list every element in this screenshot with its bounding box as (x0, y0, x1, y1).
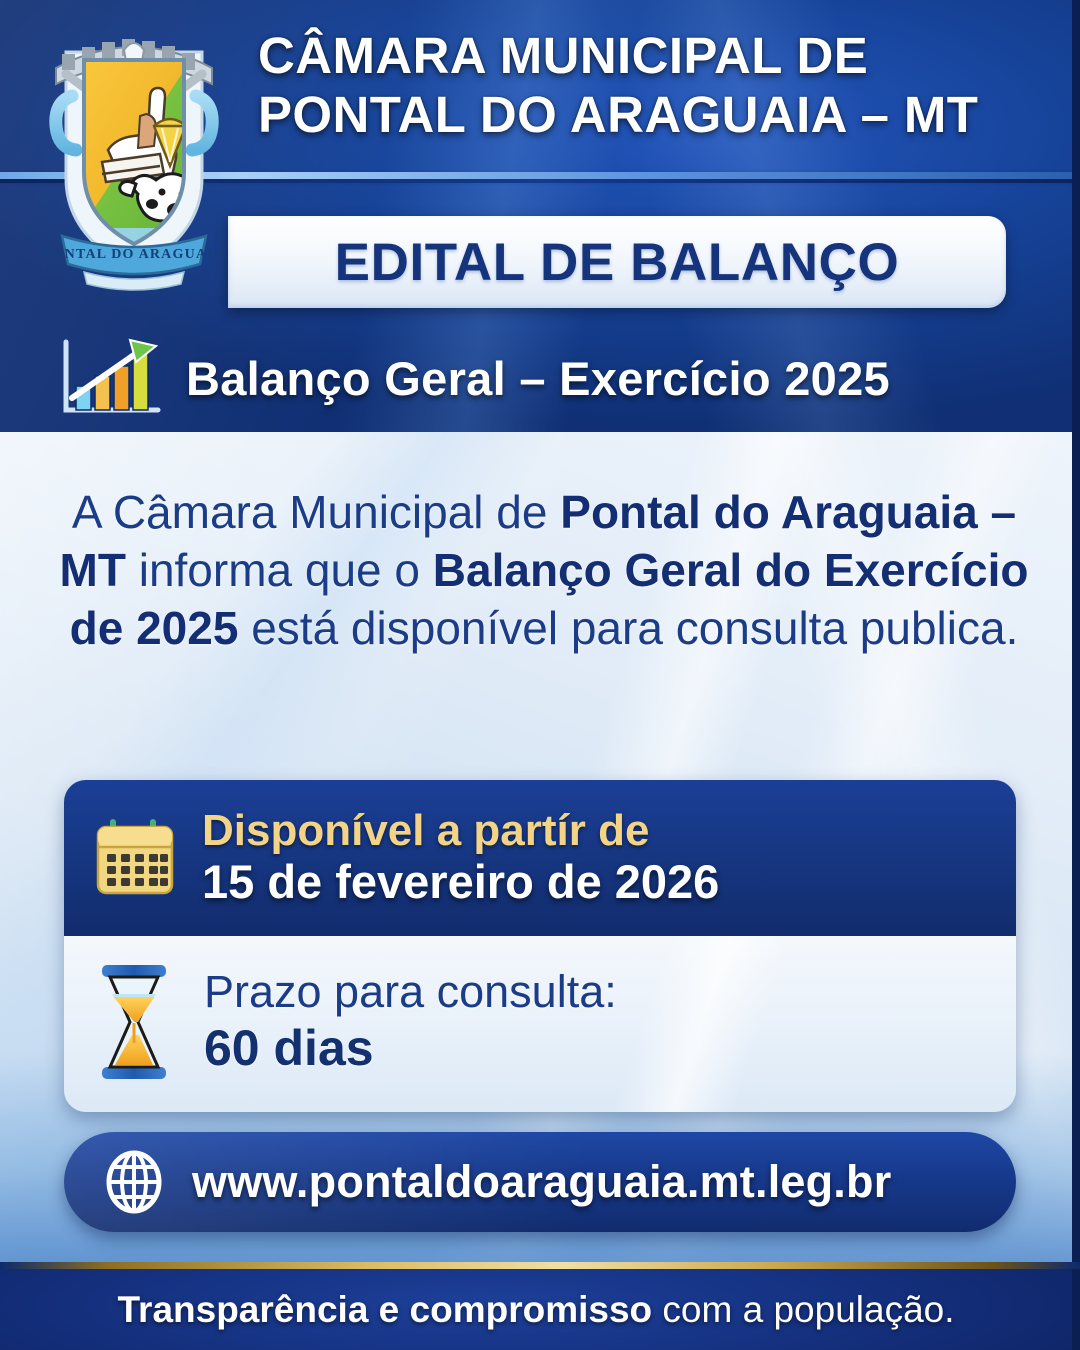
availability-text-group: Disponível a partír de 15 de fevereiro d… (202, 806, 990, 909)
crest-motto-text: PONTAL DO ARAGUAIA (43, 247, 225, 262)
availability-label: Disponível a partír de (202, 806, 990, 855)
header-banner: PONTAL DO ARAGUAIA CÂMARA MUNICIPAL DE P… (0, 0, 1080, 432)
edital-banner-label: EDITAL DE BALANÇO (335, 232, 900, 293)
deadline-text-group: Prazo para consulta: 60 dias (204, 966, 990, 1077)
header-title-line1: CÂMARA MUNICIPAL DE (258, 27, 868, 84)
info-card: Disponível a partír de 15 de fevereiro d… (64, 780, 1016, 1112)
edital-banner: EDITAL DE BALANÇO (228, 216, 1006, 308)
calendar-icon (94, 817, 176, 897)
availability-panel: Disponível a partír de 15 de fevereiro d… (64, 780, 1016, 936)
subtitle-row: Balanço Geral – Exercício 2025 (56, 330, 1056, 426)
deadline-panel: Prazo para consulta: 60 dias (64, 936, 1016, 1112)
globe-icon (102, 1150, 166, 1214)
hourglass-icon (98, 963, 170, 1081)
bar-chart-growth-icon (56, 336, 164, 420)
deadline-value: 60 dias (204, 1019, 990, 1078)
paragraph-seg-3: informa que o (126, 544, 433, 596)
website-url-label[interactable]: www.pontaldoaraguaia.mt.leg.br (192, 1156, 891, 1208)
website-bar[interactable]: www.pontaldoaraguaia.mt.leg.br (64, 1132, 1016, 1232)
coat-of-arms-icon: PONTAL DO ARAGUAIA (26, 22, 242, 304)
announcement-paragraph: A Câmara Municipal de Pontal do Araguaia… (54, 484, 1034, 658)
footer-slogan-light: com a população. (652, 1289, 954, 1330)
subtitle-label: Balanço Geral – Exercício 2025 (186, 351, 890, 406)
footer-slogan-bold: Transparência e compromisso (117, 1289, 652, 1330)
header-title-line2: PONTAL DO ARAGUAIA – MT (258, 85, 1048, 144)
deadline-label: Prazo para consulta: (204, 966, 990, 1018)
footer-slogan: Transparência e compromisso com a popula… (117, 1289, 954, 1331)
gold-divider-rule (0, 1262, 1080, 1269)
poster-root: PONTAL DO ARAGUAIA CÂMARA MUNICIPAL DE P… (0, 0, 1080, 1350)
paragraph-seg-5: está disponível para consulta publica. (238, 602, 1018, 654)
footer-bar: Transparência e compromisso com a popula… (0, 1269, 1080, 1350)
paragraph-seg-1: A Câmara Municipal de (72, 486, 560, 538)
availability-date-value: 15 de fevereiro de 2026 (202, 855, 990, 909)
body-area: A Câmara Municipal de Pontal do Araguaia… (0, 432, 1080, 1262)
header-title: CÂMARA MUNICIPAL DE PONTAL DO ARAGUAIA –… (258, 26, 1048, 144)
